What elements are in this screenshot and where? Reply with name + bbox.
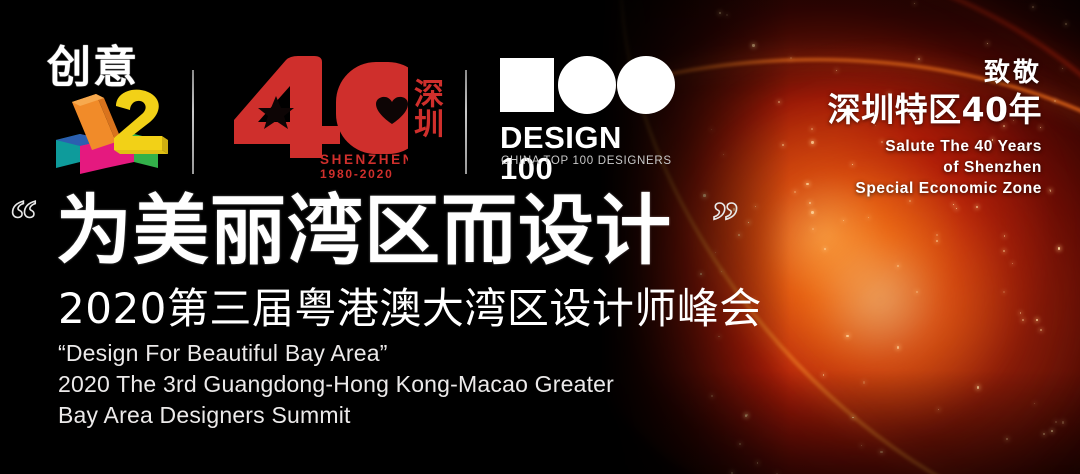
salute-english-3: Special Economic Zone (782, 178, 1042, 199)
salute-english-1: Salute The 40 Years (782, 136, 1042, 157)
salute-line-1: 致敬 (782, 58, 1042, 88)
salute-block: 致敬 深圳特区40年 Salute The 40 Years of Shenzh… (782, 58, 1042, 199)
subtitle-chinese: 2020第三届粤港澳大湾区设计师峰会 (58, 284, 762, 334)
logo-divider (192, 70, 194, 174)
english-subtitle-block: “Design For Beautiful Bay Area” 2020 The… (58, 338, 778, 431)
design-100-logo: DESIGN 100 CHINA TOP 100 DESIGNERS (500, 56, 680, 178)
chuangyi-number-12-icon (42, 84, 182, 174)
shenzhen-hanzi: 深圳 (410, 78, 440, 138)
shenzhen-40-logo: SHENZHEN 1980-2020 深圳 (228, 52, 448, 178)
logo-row: 创意 (0, 46, 700, 178)
chuangyi-12-logo: 创意 (42, 46, 182, 174)
banner-content: 创意 (0, 0, 1080, 474)
salute-english-2: of Shenzhen (782, 157, 1042, 178)
salute-line-2: 深圳特区40年 (782, 91, 1042, 129)
headline-block: “ 为美丽湾区而设计 ” (0, 186, 790, 282)
quote-open-mark: “ (10, 192, 37, 246)
english-line-1: “Design For Beautiful Bay Area” (58, 338, 778, 369)
design-100-title: DESIGN 100 (500, 122, 680, 184)
svg-text:1980-2020: 1980-2020 (320, 167, 394, 178)
logo-divider (465, 70, 467, 174)
event-banner: 创意 (0, 0, 1080, 474)
quote-close-mark: ” (712, 194, 739, 248)
english-line-3: Bay Area Designers Summit (58, 400, 778, 431)
english-line-2: 2020 The 3rd Guangdong-Hong Kong-Macao G… (58, 369, 778, 400)
design-100-shapes-icon (500, 56, 676, 116)
headline-chinese: 为美丽湾区而设计 (56, 186, 672, 276)
svg-text:SHENZHEN: SHENZHEN (320, 152, 408, 167)
design-100-subtitle: CHINA TOP 100 DESIGNERS (501, 156, 672, 168)
